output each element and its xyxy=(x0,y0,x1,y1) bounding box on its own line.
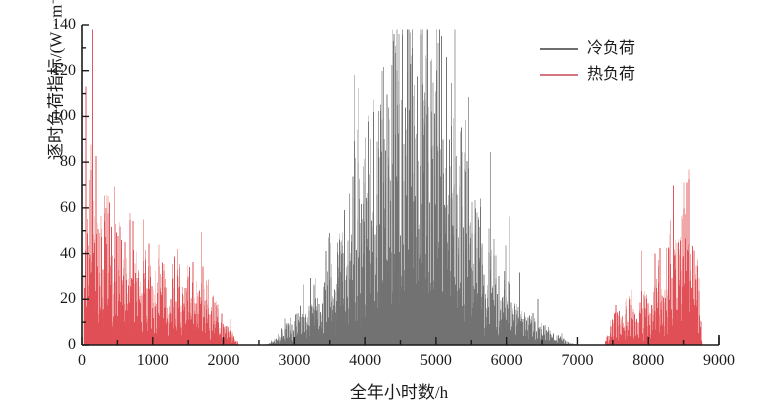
x-tick-label: 8000 xyxy=(613,352,683,370)
y-tick-label: 120 xyxy=(32,62,76,80)
chart-root: 逐时负荷指标/(W · m⁻²) 020406080100120140 0100… xyxy=(0,0,760,415)
x-tick-label: 3000 xyxy=(259,352,329,370)
x-tick-label: 4000 xyxy=(330,352,400,370)
legend: 冷负荷 热负荷 xyxy=(540,38,635,90)
x-tick-labels: 0100020003000400050006000700080009000 xyxy=(0,352,760,378)
legend-swatch-heating xyxy=(540,74,578,76)
y-tick-label: 60 xyxy=(32,199,76,217)
x-tick-label: 6000 xyxy=(472,352,542,370)
legend-label-heating: 热负荷 xyxy=(587,67,635,83)
x-axis-label: 全年小时数/h xyxy=(0,378,760,403)
x-axis-label-text: 全年小时数/h xyxy=(312,383,448,402)
legend-label-cooling: 冷负荷 xyxy=(587,41,635,57)
y-tick-label: 80 xyxy=(32,153,76,171)
y-tick-label: 20 xyxy=(32,290,76,308)
y-tick-label: 140 xyxy=(32,16,76,34)
x-tick-label: 2000 xyxy=(189,352,259,370)
x-tick-label: 7000 xyxy=(542,352,612,370)
series-heating-winter-end xyxy=(605,169,702,345)
x-tick-label: 5000 xyxy=(401,352,471,370)
legend-swatch-cooling xyxy=(540,48,578,50)
x-tick-label: 9000 xyxy=(684,352,754,370)
series-cooling xyxy=(266,30,577,345)
y-tick-label: 100 xyxy=(32,107,76,125)
x-tick-label: 0 xyxy=(47,352,117,370)
series-heating-winter-start xyxy=(84,30,239,345)
legend-item-heating: 热负荷 xyxy=(540,64,635,86)
legend-item-cooling: 冷负荷 xyxy=(540,38,635,60)
y-tick-label: 40 xyxy=(32,245,76,263)
x-tick-label: 1000 xyxy=(118,352,188,370)
